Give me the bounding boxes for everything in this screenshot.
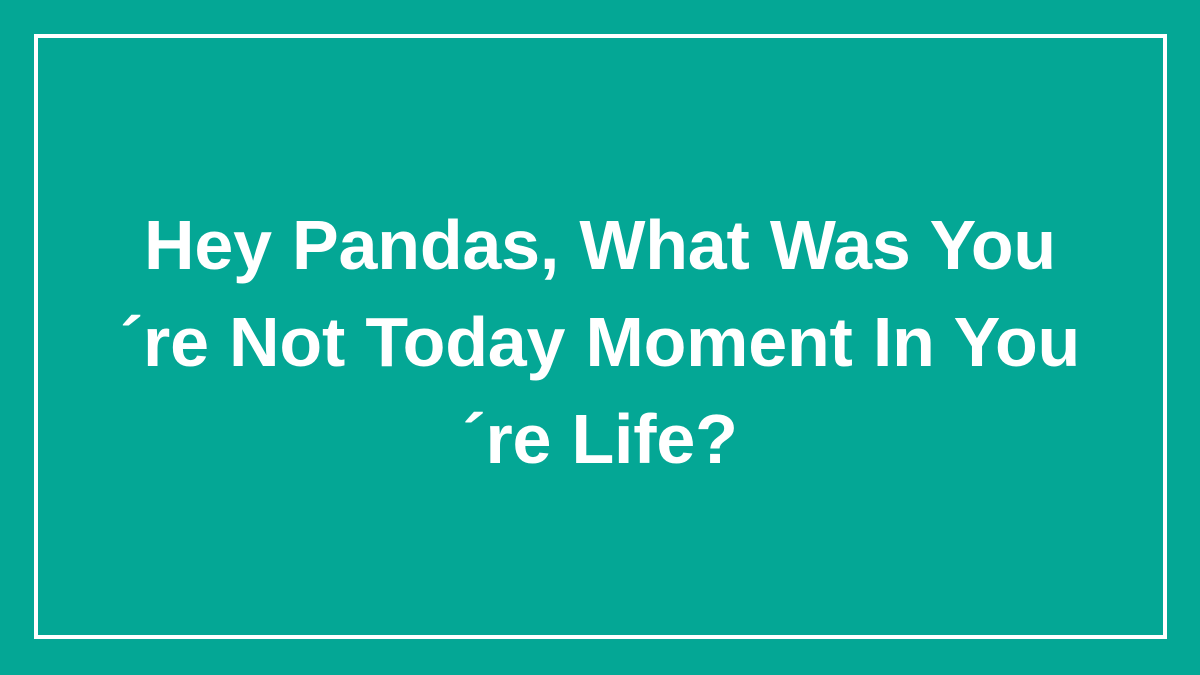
headline-container: Hey Pandas, What Was You´re Not Today Mo… bbox=[0, 0, 1200, 675]
title-card: Hey Pandas, What Was You´re Not Today Mo… bbox=[0, 0, 1200, 675]
page-title: Hey Pandas, What Was You´re Not Today Mo… bbox=[105, 197, 1095, 488]
